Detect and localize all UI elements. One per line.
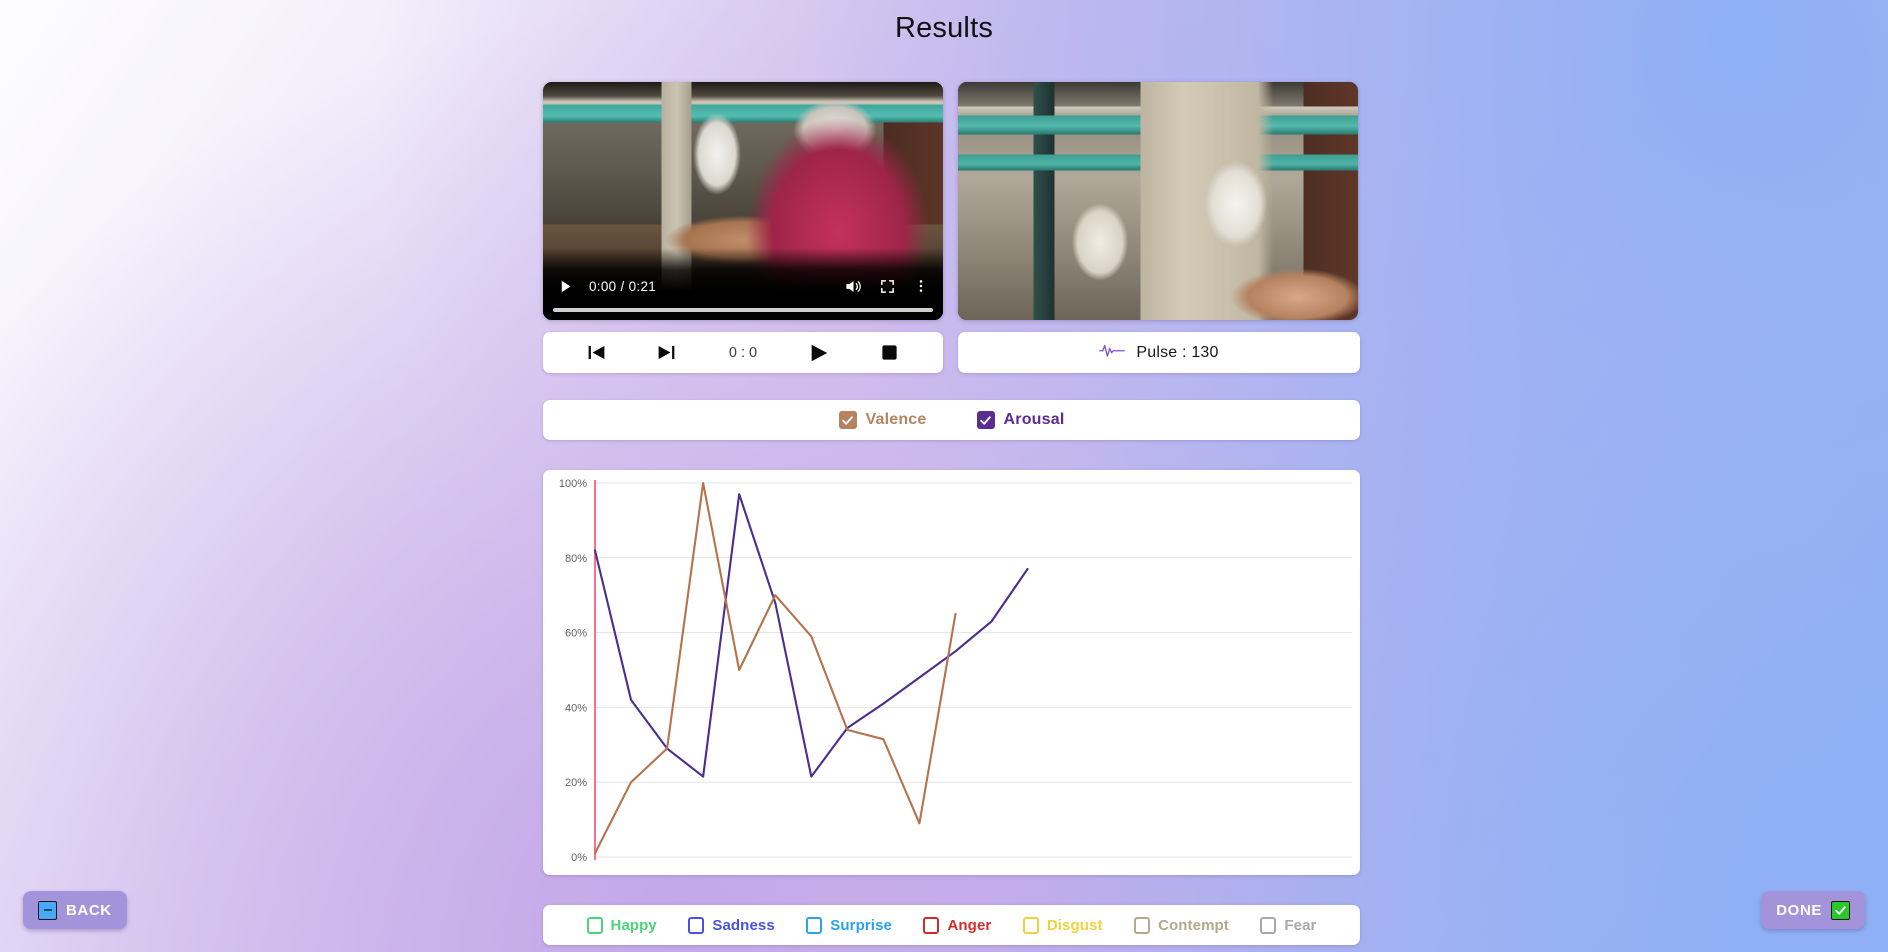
toggle-arousal[interactable]: Arousal: [977, 411, 1065, 429]
valence-checkbox[interactable]: [839, 411, 857, 429]
video-play-icon[interactable]: [553, 274, 577, 298]
done-button[interactable]: DONE: [1761, 891, 1865, 929]
contempt-checkbox[interactable]: [1134, 917, 1150, 934]
chart-series-lines: [595, 483, 1028, 853]
svg-text:20%: 20%: [565, 777, 587, 789]
media-row: 0:00 / 0:21: [543, 82, 1360, 320]
legend-item-disgust[interactable]: Disgust: [1023, 917, 1103, 934]
valence-label: Valence: [866, 411, 927, 429]
surprise-checkbox[interactable]: [806, 917, 822, 934]
chart-line-valence: [595, 483, 955, 853]
video-time-display: 0:00 / 0:21: [589, 279, 656, 294]
chart-svg: 0%20%40%60%80%100%: [543, 470, 1360, 875]
skip-next-icon[interactable]: [650, 338, 684, 368]
dimension-toggles-bar: Valence Arousal: [543, 400, 1360, 440]
transport-time-display: 0 : 0: [720, 345, 766, 361]
disgust-label: Disgust: [1047, 917, 1103, 934]
disgust-checkbox[interactable]: [1023, 917, 1039, 934]
svg-text:0%: 0%: [571, 852, 587, 864]
legend-item-happy[interactable]: Happy: [587, 917, 657, 934]
pulse-panel: Pulse : 130: [958, 332, 1360, 373]
surprise-label: Surprise: [830, 917, 892, 934]
svg-text:80%: 80%: [565, 553, 587, 565]
happy-label: Happy: [611, 917, 657, 934]
more-options-icon[interactable]: [909, 274, 933, 298]
emotion-legend-bar: Happy Sadness Surprise Anger Disgust Con…: [543, 905, 1360, 945]
anger-checkbox[interactable]: [923, 917, 939, 934]
legend-item-surprise[interactable]: Surprise: [806, 917, 892, 934]
contempt-label: Contempt: [1158, 917, 1229, 934]
sadness-checkbox[interactable]: [688, 917, 704, 934]
legend-item-fear[interactable]: Fear: [1260, 917, 1316, 934]
svg-text:100%: 100%: [559, 478, 587, 490]
back-glyph-icon: [38, 901, 57, 920]
playback-transport-bar: 0 : 0: [543, 332, 943, 373]
arousal-label: Arousal: [1004, 411, 1065, 429]
svg-text:60%: 60%: [565, 628, 587, 640]
toggle-valence[interactable]: Valence: [839, 411, 927, 429]
volume-icon[interactable]: [841, 274, 865, 298]
anger-label: Anger: [947, 917, 991, 934]
transport-and-pulse-row: 0 : 0 Pulse : 130: [543, 332, 1360, 373]
emotion-timeline-chart[interactable]: 0%20%40%60%80%100%: [543, 470, 1360, 875]
back-button-label: BACK: [66, 902, 112, 919]
done-button-label: DONE: [1776, 902, 1822, 919]
page-title: Results: [0, 0, 1888, 45]
primary-video-player[interactable]: 0:00 / 0:21: [543, 82, 943, 320]
svg-text:40%: 40%: [565, 702, 587, 714]
fullscreen-icon[interactable]: [875, 274, 899, 298]
happy-checkbox[interactable]: [587, 917, 603, 934]
skip-previous-icon[interactable]: [579, 338, 613, 368]
legend-item-anger[interactable]: Anger: [923, 917, 991, 934]
video-progress-scrubber[interactable]: [553, 308, 933, 312]
fear-label: Fear: [1284, 917, 1316, 934]
secondary-preview-panel[interactable]: [958, 82, 1358, 320]
heartbeat-icon: [1099, 341, 1125, 364]
arousal-checkbox[interactable]: [977, 411, 995, 429]
legend-item-contempt[interactable]: Contempt: [1134, 917, 1229, 934]
sadness-label: Sadness: [712, 917, 774, 934]
legend-item-sadness[interactable]: Sadness: [688, 917, 774, 934]
chart-y-tick-labels: 0%20%40%60%80%100%: [559, 478, 587, 864]
check-glyph-icon: [1831, 901, 1850, 920]
fear-checkbox[interactable]: [1260, 917, 1276, 934]
video-controls-bar: 0:00 / 0:21: [543, 248, 943, 320]
stop-icon[interactable]: [873, 338, 907, 368]
back-button[interactable]: BACK: [23, 891, 127, 929]
preview-frame-image: [958, 82, 1358, 320]
pulse-label: Pulse : 130: [1136, 344, 1218, 362]
play-icon[interactable]: [802, 338, 836, 368]
chart-gridlines: [595, 483, 1352, 857]
